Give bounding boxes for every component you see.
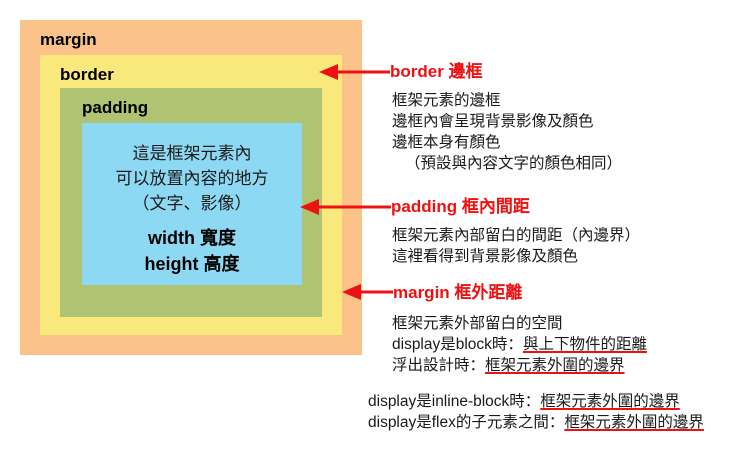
content-text-spacer	[82, 216, 302, 225]
margin-note-extra-block: display是inline-block時：框架元素外圍的邊界 display是…	[368, 391, 704, 433]
content-width-label: width 寬度	[82, 225, 302, 251]
margin-note-flex-prefix: display是flex的子元素之間：	[368, 414, 564, 431]
padding-pointer-arrow-icon	[299, 196, 391, 218]
border-note-line-1: 框架元素的邊框	[392, 90, 622, 111]
border-note-line-2: 邊框內會呈現背景影像及顏色	[392, 111, 622, 132]
content-line-3: （文字、影像）	[82, 191, 302, 216]
box-model-diagram: margin border padding 這是框架元素內 可以放置內容的地方 …	[20, 20, 362, 355]
margin-note-line-flex: display是flex的子元素之間：框架元素外圍的邊界	[368, 412, 704, 433]
margin-note-inline-prefix: display是inline-block時：	[368, 393, 540, 410]
border-pointer-arrow-icon	[318, 61, 390, 83]
content-line-1: 這是框架元素內	[82, 141, 302, 166]
border-note-line-4: （預設與內容文字的顏色相同）	[392, 153, 622, 174]
margin-note-block-underlined: 與上下物件的距離	[523, 336, 647, 353]
margin-note-inline-underlined: 框架元素外圍的邊界	[540, 393, 680, 410]
margin-pointer-arrow-icon	[341, 281, 393, 303]
margin-note-block-prefix: display是block時：	[392, 336, 523, 353]
border-note-line-3: 邊框本身有顏色	[392, 132, 622, 153]
margin-note-heading: margin 框外距離	[393, 284, 522, 301]
content-layer: 這是框架元素內 可以放置內容的地方 （文字、影像） width 寬度 heigh…	[82, 123, 302, 285]
border-note-heading: border 邊框	[390, 63, 483, 80]
margin-note-line-inline: display是inline-block時：框架元素外圍的邊界	[368, 391, 704, 412]
margin-note-float-prefix: 浮出設計時：	[392, 357, 485, 374]
margin-layer-label: margin	[40, 31, 97, 48]
border-layer-label: border	[60, 66, 114, 83]
padding-note-heading: padding 框內間距	[391, 198, 530, 215]
margin-note-body: 框架元素外部留白的空間 display是block時：與上下物件的距離 浮出設計…	[392, 313, 647, 376]
padding-note-line-1: 框架元素內部留白的間距（內邊界）	[392, 225, 640, 246]
border-note-body: 框架元素的邊框 邊框內會呈現背景影像及顏色 邊框本身有顏色 （預設與內容文字的顏…	[392, 90, 622, 174]
margin-note-float-underlined: 框架元素外圍的邊界	[485, 357, 625, 374]
padding-note-body: 框架元素內部留白的間距（內邊界） 這裡看得到背景影像及顏色	[392, 225, 640, 267]
padding-note-line-2: 這裡看得到背景影像及顏色	[392, 246, 640, 267]
margin-note-line-1: 框架元素外部留白的空間	[392, 313, 647, 334]
margin-note-flex-underlined: 框架元素外圍的邊界	[564, 414, 704, 431]
content-height-label: height 高度	[82, 251, 302, 277]
content-line-2: 可以放置內容的地方	[82, 166, 302, 191]
padding-layer-label: padding	[82, 99, 148, 116]
margin-note-line-float: 浮出設計時：框架元素外圍的邊界	[392, 355, 647, 376]
content-layer-text: 這是框架元素內 可以放置內容的地方 （文字、影像） width 寬度 heigh…	[82, 141, 302, 277]
margin-note-line-block: display是block時：與上下物件的距離	[392, 334, 647, 355]
